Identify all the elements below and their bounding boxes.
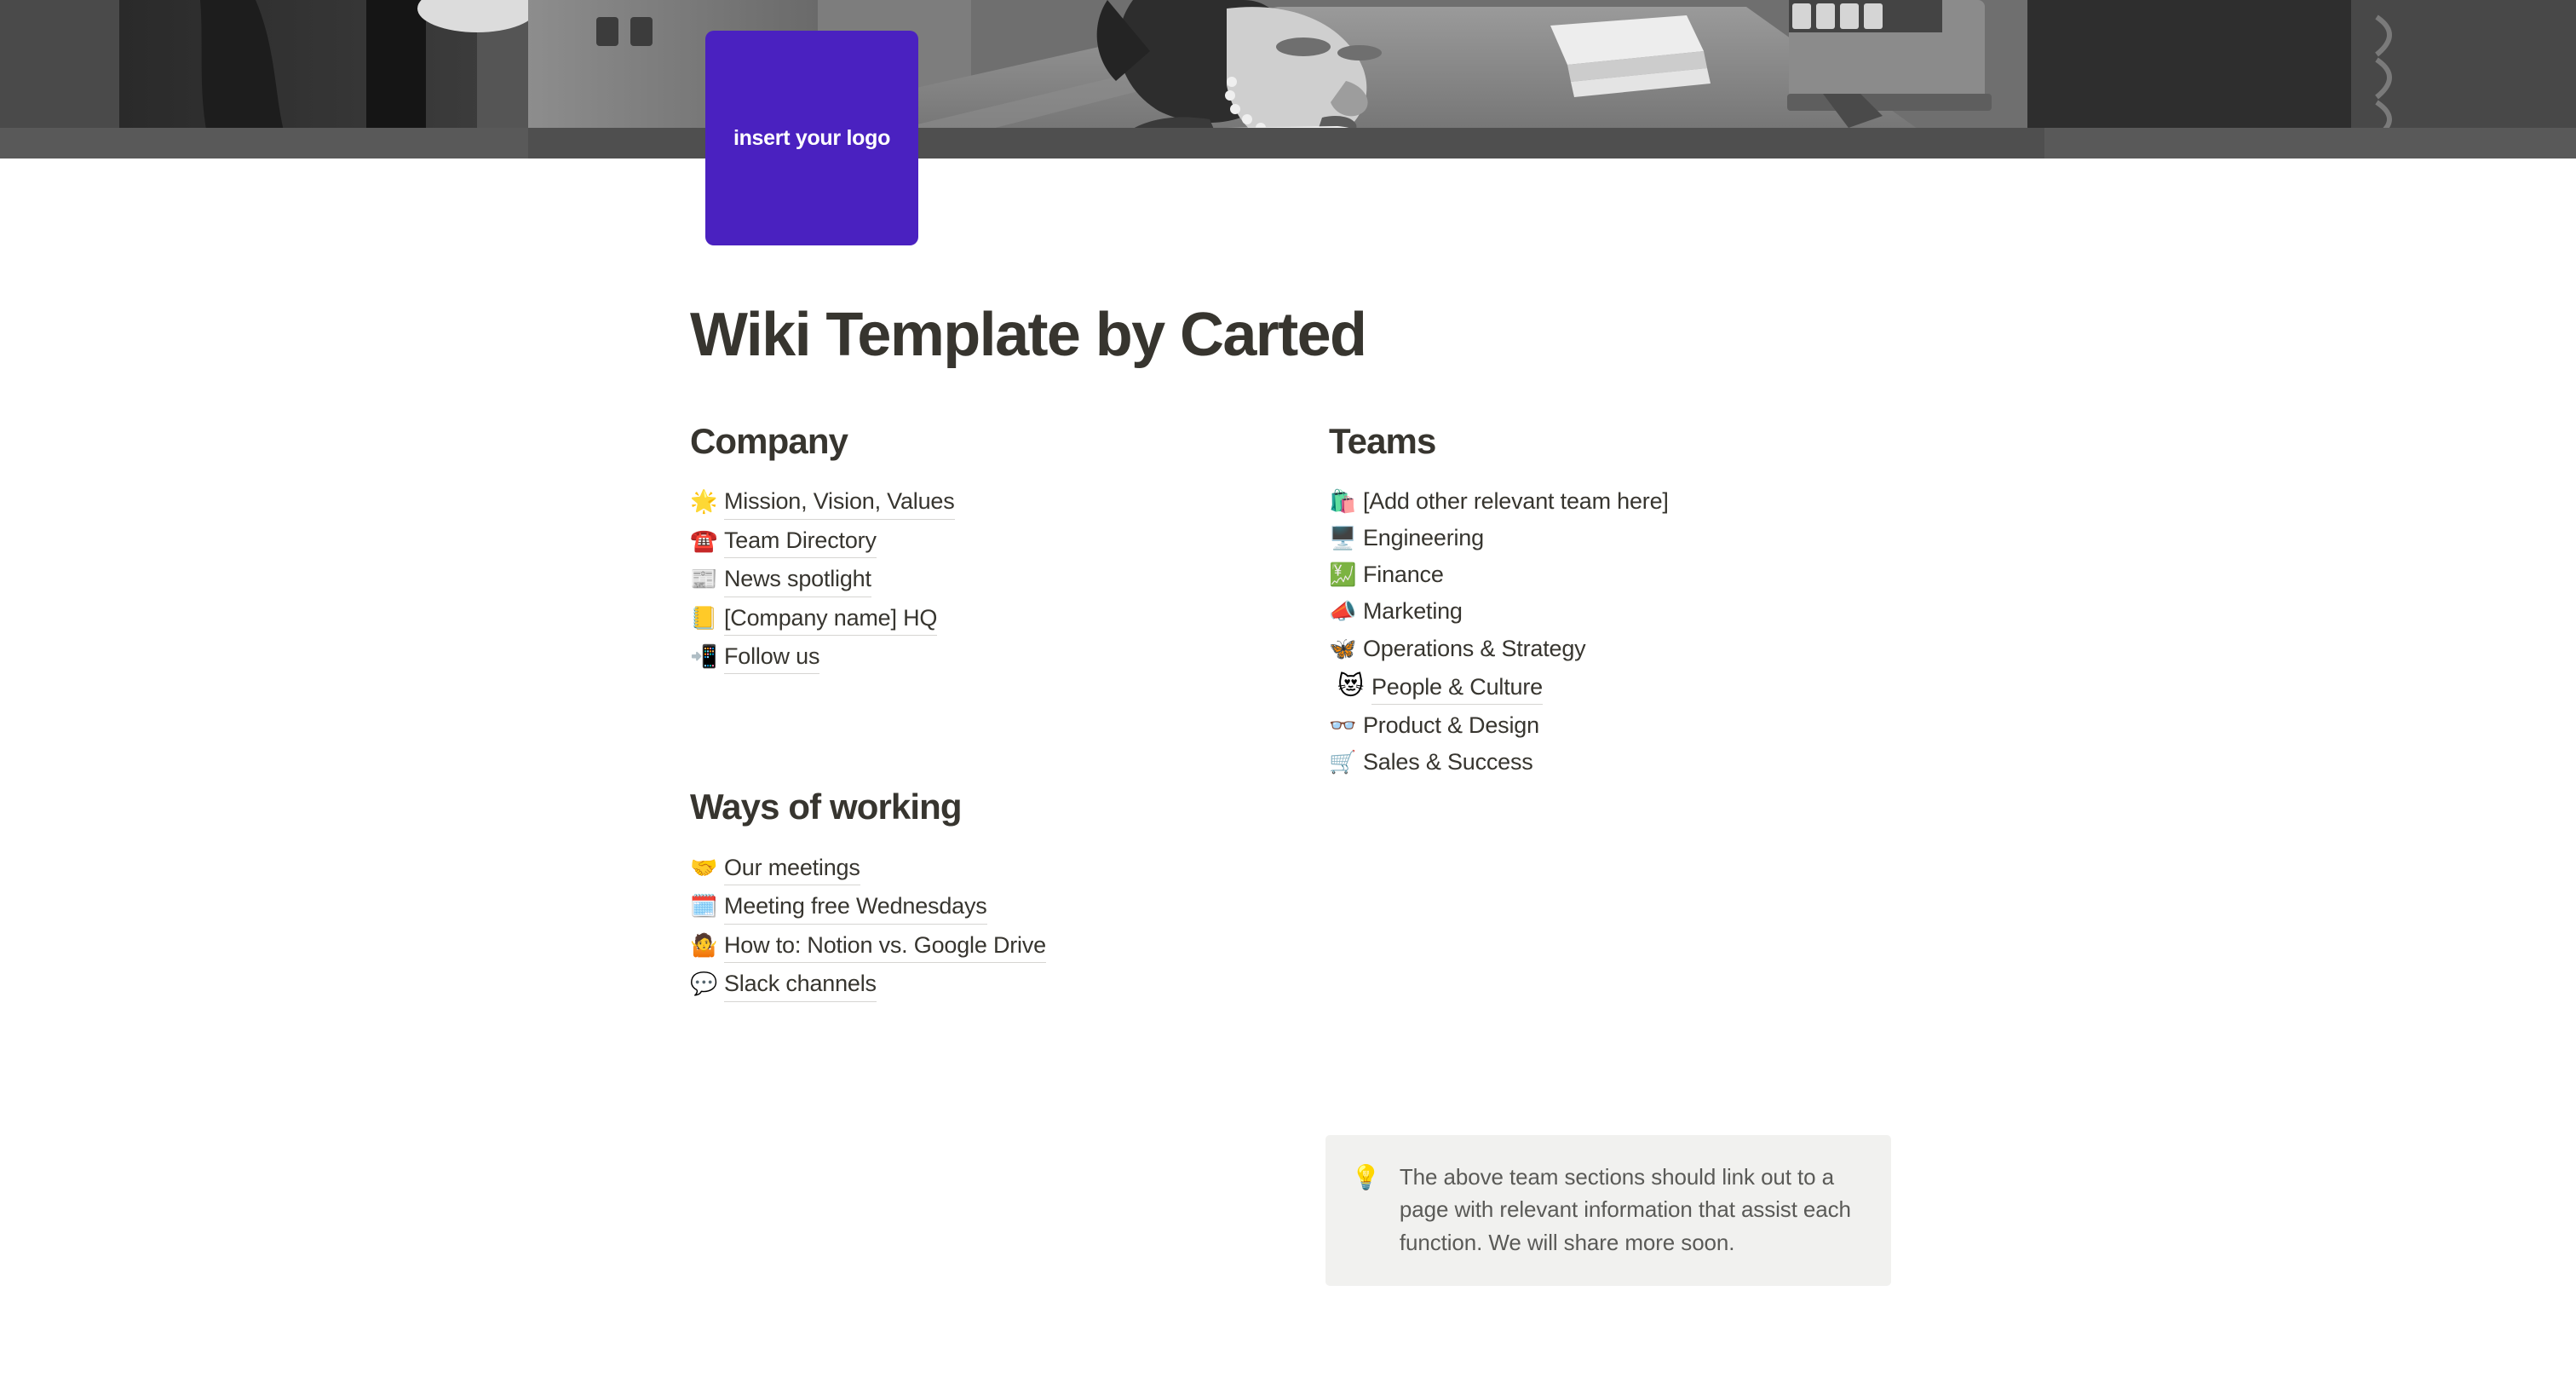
person-shrugging-icon: 🤷 bbox=[690, 931, 716, 961]
list-item[interactable]: 🛒 Sales & Success bbox=[1329, 744, 1951, 781]
list-item-label[interactable]: Our meetings bbox=[724, 852, 860, 885]
list-item-label[interactable]: News spotlight bbox=[724, 563, 871, 597]
list-item[interactable]: 📣 Marketing bbox=[1329, 593, 1951, 630]
logo-label: insert your logo bbox=[733, 128, 890, 149]
cover-image[interactable] bbox=[0, 0, 2576, 158]
list-item-label[interactable]: [Company name] HQ bbox=[724, 602, 937, 636]
left-column: Company 🌟 Mission, Vision, Values ☎️ Tea… bbox=[690, 420, 1329, 1005]
desktop-computer-icon: 🖥️ bbox=[1329, 524, 1354, 554]
list-item-label[interactable]: Meeting free Wednesdays bbox=[724, 890, 987, 924]
ledger-icon: 📒 bbox=[690, 604, 716, 634]
column-spacer bbox=[690, 677, 1329, 786]
list-item-label[interactable]: Slack channels bbox=[724, 968, 877, 1001]
list-item[interactable]: 🗓️ Meeting free Wednesdays bbox=[690, 888, 1329, 926]
list-item[interactable]: ☎️ Team Directory bbox=[690, 522, 1329, 561]
spiral-calendar-icon: 🗓️ bbox=[690, 892, 716, 922]
ways-of-working-heading: Ways of working bbox=[690, 786, 1329, 828]
list-item-label[interactable]: Team Directory bbox=[724, 525, 877, 558]
smiling-cat-with-heart-eyes-icon: 😻 bbox=[1337, 670, 1363, 705]
list-item-label[interactable]: [Add other relevant team here] bbox=[1363, 486, 1669, 516]
list-item-label[interactable]: Product & Design bbox=[1363, 710, 1539, 741]
list-item[interactable]: 💹 Finance bbox=[1329, 556, 1951, 593]
megaphone-icon: 📣 bbox=[1329, 597, 1354, 627]
shopping-cart-icon: 🛒 bbox=[1329, 748, 1354, 778]
list-item[interactable]: 💬 Slack channels bbox=[690, 965, 1329, 1004]
handshake-icon: 🤝 bbox=[690, 854, 716, 884]
page-title: Wiki Template by Carted bbox=[690, 300, 1951, 371]
callout-text: The above team sections should link out … bbox=[1400, 1161, 1864, 1259]
wiki-page: insert your logo Wiki Template by Carted… bbox=[0, 0, 2576, 1389]
section-teams: Teams 🛍️ [Add other relevant team here] … bbox=[1329, 420, 1951, 781]
company-heading: Company bbox=[690, 420, 1329, 463]
list-item-label[interactable]: How to: Notion vs. Google Drive bbox=[724, 930, 1046, 963]
glasses-icon: 👓 bbox=[1329, 712, 1354, 741]
mobile-phone-with-arrow-icon: 📲 bbox=[690, 643, 716, 672]
list-item[interactable]: 🖥️ Engineering bbox=[1329, 520, 1951, 556]
list-item[interactable]: 🦋 Operations & Strategy bbox=[1329, 631, 1951, 667]
list-item[interactable]: 📰 News spotlight bbox=[690, 561, 1329, 599]
section-ways-of-working: Ways of working 🤝 Our meetings 🗓️ Meetin… bbox=[690, 786, 1329, 1004]
cover-photo-graphic bbox=[0, 0, 2576, 158]
list-item[interactable]: 🤷 How to: Notion vs. Google Drive bbox=[690, 927, 1329, 965]
list-item[interactable]: 🛍️ [Add other relevant team here] bbox=[1329, 483, 1951, 520]
newspaper-icon: 📰 bbox=[690, 565, 716, 595]
list-item[interactable]: 📲 Follow us bbox=[690, 638, 1329, 677]
shopping-bags-icon: 🛍️ bbox=[1329, 487, 1354, 517]
company-link-list: 🌟 Mission, Vision, Values ☎️ Team Direct… bbox=[690, 483, 1329, 677]
list-item-label[interactable]: Marketing bbox=[1363, 596, 1463, 626]
speech-balloon-icon: 💬 bbox=[690, 970, 716, 1000]
teams-link-list: 🛍️ [Add other relevant team here] 🖥️ Eng… bbox=[1329, 483, 1951, 781]
logo-placeholder[interactable]: insert your logo bbox=[705, 31, 918, 245]
chart-increasing-with-yen-icon: 💹 bbox=[1329, 561, 1354, 591]
right-column: Teams 🛍️ [Add other relevant team here] … bbox=[1329, 420, 1951, 1005]
list-item-label[interactable]: Sales & Success bbox=[1363, 746, 1533, 777]
list-item-label[interactable]: Mission, Vision, Values bbox=[724, 486, 955, 519]
list-item-label[interactable]: Operations & Strategy bbox=[1363, 633, 1585, 664]
page-content: Wiki Template by Carted Company 🌟 Missio… bbox=[690, 300, 1951, 1005]
list-item-label[interactable]: People & Culture bbox=[1371, 671, 1543, 705]
list-item[interactable]: 🌟 Mission, Vision, Values bbox=[690, 483, 1329, 522]
teams-heading: Teams bbox=[1329, 420, 1951, 463]
two-column-layout: Company 🌟 Mission, Vision, Values ☎️ Tea… bbox=[690, 420, 1951, 1005]
butterfly-icon: 🦋 bbox=[1329, 635, 1354, 665]
glowing-star-icon: 🌟 bbox=[690, 487, 716, 517]
callout-box: 💡 The above team sections should link ou… bbox=[1325, 1135, 1891, 1286]
list-item[interactable]: 📒 [Company name] HQ bbox=[690, 600, 1329, 638]
list-item[interactable]: 😻 People & Culture bbox=[1329, 667, 1951, 707]
light-bulb-icon: 💡 bbox=[1351, 1161, 1381, 1194]
list-item[interactable]: 👓 Product & Design bbox=[1329, 707, 1951, 744]
list-item-label[interactable]: Finance bbox=[1363, 559, 1444, 590]
telephone-icon: ☎️ bbox=[690, 527, 716, 556]
ways-of-working-link-list: 🤝 Our meetings 🗓️ Meeting free Wednesday… bbox=[690, 850, 1329, 1005]
list-item-label[interactable]: Follow us bbox=[724, 641, 819, 674]
section-company: Company 🌟 Mission, Vision, Values ☎️ Tea… bbox=[690, 420, 1329, 677]
list-item-label[interactable]: Engineering bbox=[1363, 522, 1484, 553]
list-item[interactable]: 🤝 Our meetings bbox=[690, 850, 1329, 888]
